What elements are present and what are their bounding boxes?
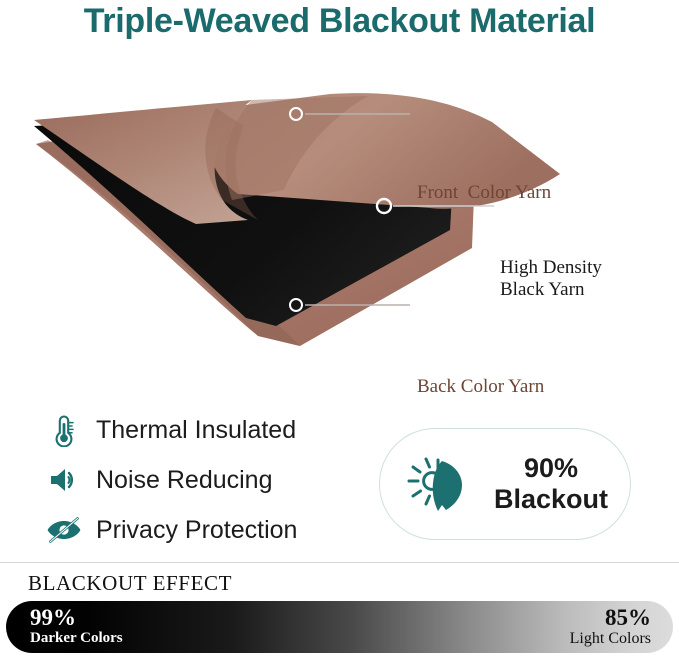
blackout-percentage-badge: 90% Blackout: [379, 428, 631, 540]
feature-label-privacy-protection: Privacy Protection: [96, 516, 297, 545]
blackout-effect-heading: BLACKOUT EFFECT: [28, 571, 232, 596]
fabric-layers-illustration: [0, 78, 679, 368]
light-colors-percent: 85%: [570, 606, 651, 631]
blackout-percent: 90%: [524, 453, 578, 483]
feature-label-thermal-insulated: Thermal Insulated: [96, 416, 296, 445]
darker-colors-percent: 99%: [30, 606, 123, 631]
features-list: Thermal Insulated Noise Reducing Privacy…: [44, 408, 364, 558]
thermometer-icon: [44, 410, 84, 450]
gradient-bar-left-stat: 99% Darker Colors: [30, 606, 123, 646]
feature-item-privacy-protection: Privacy Protection: [44, 508, 364, 552]
callout-label-back-color-yarn: Back Color Yarn: [417, 376, 544, 398]
blackout-effect-gradient-bar: 99% Darker Colors 85% Light Colors: [6, 601, 673, 653]
feature-item-thermal-insulated: Thermal Insulated: [44, 408, 364, 452]
blackout-badge-text: 90% Blackout: [484, 453, 630, 515]
speaker-sound-icon: [44, 460, 84, 500]
blackout-word: Blackout: [494, 484, 608, 514]
darker-colors-label: Darker Colors: [30, 630, 123, 646]
callout-label-high-density-black-yarn: High Density Black Yarn: [500, 257, 602, 302]
section-divider: [0, 562, 679, 563]
page-title: Triple-Weaved Blackout Material: [0, 2, 679, 41]
fabric-layers-diagram: Front Color Yarn High Density Black Yarn…: [0, 78, 679, 368]
sun-behind-curtain-icon: [400, 447, 478, 521]
feature-item-noise-reducing: Noise Reducing: [44, 458, 364, 502]
gradient-bar-right-stat: 85% Light Colors: [570, 606, 651, 647]
feature-label-noise-reducing: Noise Reducing: [96, 466, 273, 495]
callout-label-front-color-yarn: Front Color Yarn: [417, 182, 551, 204]
light-colors-label: Light Colors: [570, 630, 651, 647]
eye-slash-icon: [44, 510, 84, 550]
